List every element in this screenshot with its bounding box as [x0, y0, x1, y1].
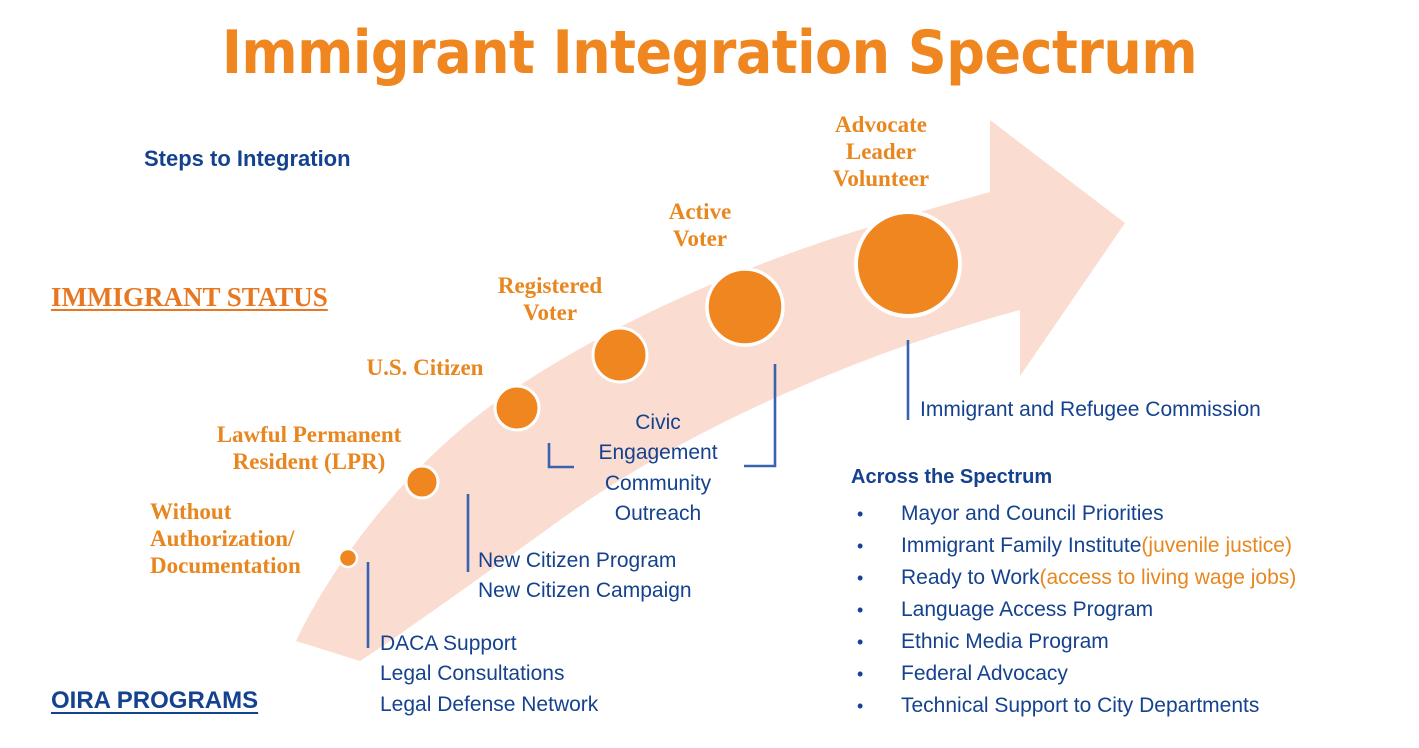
program-callout-daca: DACA Support Legal Consultations Legal D… — [380, 629, 598, 720]
across-list-item: •Mayor and Council Priorities — [857, 498, 1402, 530]
across-list-item-label: Mayor and Council Priorities — [901, 498, 1164, 529]
stage-label-without-authorization: Without Authorization/ Documentation — [150, 498, 301, 579]
across-list-item: •Language Access Program — [857, 594, 1402, 626]
bullet-icon: • — [857, 691, 901, 722]
infographic-canvas: Immigrant Integration Spectrum Steps to … — [0, 0, 1419, 748]
across-the-spectrum-heading: Across the Spectrum — [851, 466, 1052, 489]
bullet-icon: • — [857, 563, 901, 594]
steps-to-integration-heading: Steps to Integration — [144, 146, 351, 172]
stage-circle-5 — [856, 212, 960, 316]
across-list-item-label: Ready to Work — [901, 562, 1040, 593]
across-list-item: •Ethnic Media Program — [857, 626, 1402, 658]
across-list-item-label: Immigrant Family Institute — [901, 530, 1141, 561]
immigrant-status-heading: IMMIGRANT STATUS — [51, 282, 328, 313]
across-list-item-label: Language Access Program — [901, 594, 1153, 625]
stage-circle-2 — [495, 386, 539, 430]
bullet-icon: • — [857, 627, 901, 658]
stage-label-us-citizen: U.S. Citizen — [360, 354, 490, 381]
stage-label-registered-voter: Registered Voter — [470, 272, 630, 326]
bullet-icon: • — [857, 499, 901, 530]
across-the-spectrum-list: •Mayor and Council Priorities•Immigrant … — [857, 498, 1402, 722]
across-list-item-label: Ethnic Media Program — [901, 626, 1109, 657]
across-list-item-label: Technical Support to City Departments — [901, 690, 1259, 721]
bullet-icon: • — [857, 531, 901, 562]
across-list-item: •Federal Advocacy — [857, 658, 1402, 690]
program-callout-new-citizen: New Citizen Program New Citizen Campaign — [478, 546, 692, 607]
across-list-item: •Ready to Work (access to living wage jo… — [857, 562, 1402, 594]
oira-programs-heading: OIRA PROGRAMS — [51, 687, 258, 715]
across-list-item: •Immigrant Family Institute (juvenile ju… — [857, 530, 1402, 562]
stage-circle-4 — [707, 269, 783, 345]
program-callout-immigrant-refugee-commission: Immigrant and Refugee Commission — [920, 395, 1261, 425]
program-callout-civic-engagement: Civic Engagement Community Outreach — [584, 408, 732, 530]
stage-circle-3 — [593, 328, 647, 382]
across-list-item: •Technical Support to City Departments — [857, 690, 1402, 722]
across-list-item-note: (juvenile justice) — [1141, 530, 1292, 561]
stage-label-active-voter: Active Voter — [635, 198, 765, 252]
bullet-icon: • — [857, 659, 901, 690]
page-title: Immigrant Integration Spectrum — [0, 18, 1419, 88]
stage-circle-0 — [339, 549, 357, 567]
stage-label-advocate-leader-volunteer: Advocate Leader Volunteer — [805, 111, 957, 192]
stage-label-lawful-permanent-resident: Lawful Permanent Resident (LPR) — [198, 421, 420, 475]
across-list-item-label: Federal Advocacy — [901, 658, 1068, 689]
bullet-icon: • — [857, 595, 901, 626]
across-list-item-note: (access to living wage jobs) — [1040, 562, 1297, 593]
